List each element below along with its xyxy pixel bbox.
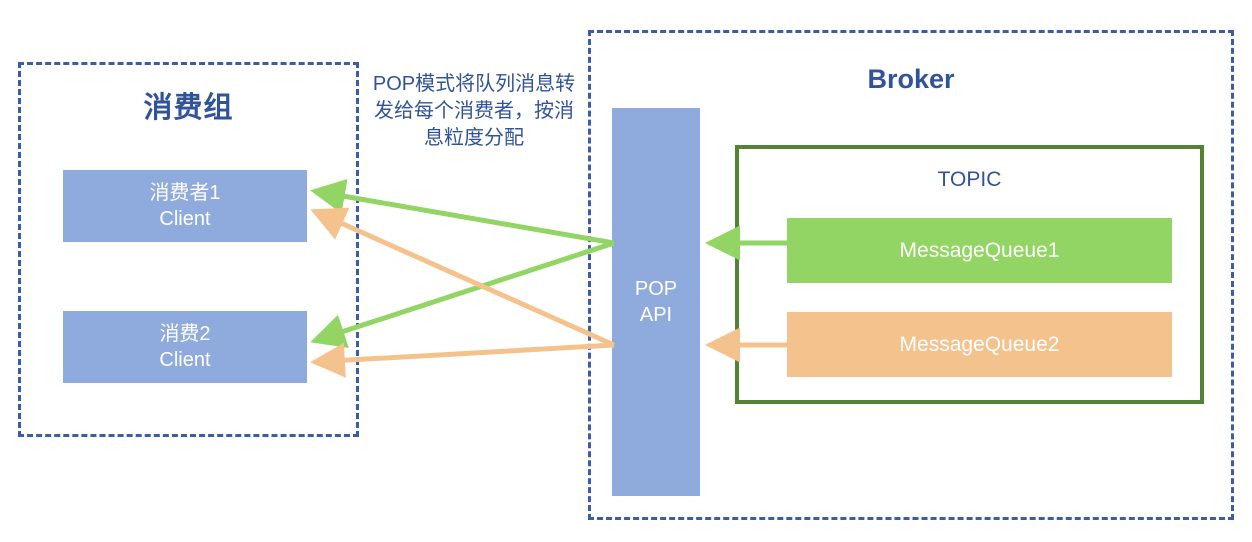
consumer-1-name: 消费者1 [149,180,220,206]
consumer-group-title: 消费组 [18,84,359,126]
arrow-popapi-to-consumer1-orange [314,211,614,345]
consumer-2-box[interactable]: 消费2 Client [63,311,307,383]
topic-label: TOPIC [735,168,1204,192]
broker-title: Broker [588,64,1234,95]
message-queue-1[interactable]: MessageQueue1 [787,218,1172,283]
arrow-popapi-to-consumer1-green [314,191,614,243]
consumer-1-role: Client [159,206,210,232]
arrow-popapi-to-consumer2-orange [314,345,614,362]
consumer-2-role: Client [159,347,210,373]
arrow-popapi-to-consumer2-green [314,243,614,341]
pop-api-line-2: API [640,302,672,328]
message-queue-2[interactable]: MessageQueue2 [787,312,1172,377]
consumer-1-box[interactable]: 消费者1 Client [63,170,307,242]
message-queue-1-label: MessageQueue1 [900,239,1060,263]
pop-api-box[interactable]: POP API [612,108,700,496]
message-queue-2-label: MessageQueue2 [900,333,1060,357]
pop-api-line-1: POP [635,276,677,302]
diagram-canvas: 消费组 消费者1 Client 消费2 Client POP模式将队列消息转发给… [0,0,1252,542]
pop-mode-annotation: POP模式将队列消息转发给每个消费者，按消息粒度分配 [372,71,576,152]
consumer-2-name: 消费2 [159,321,210,347]
